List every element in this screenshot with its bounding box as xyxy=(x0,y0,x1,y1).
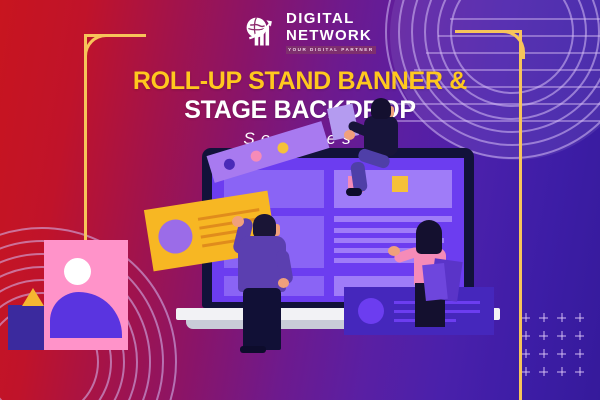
brand-line2: NETWORK xyxy=(286,28,376,43)
frame-left-corner xyxy=(84,34,113,63)
illustration xyxy=(0,140,600,400)
poster-sun-icon xyxy=(64,258,91,285)
man-shoe xyxy=(240,346,266,353)
sitting-person-shoe xyxy=(346,188,362,196)
brand-text: DIGITAL NETWORK YOUR DIGITAL PARTNER xyxy=(286,11,376,54)
headline-line-1: ROLL-UP STAND BANNER & xyxy=(0,68,600,94)
sitting-person-hand xyxy=(344,130,355,140)
yellow-card-circle xyxy=(156,217,195,256)
promo-banner: DIGITAL NETWORK YOUR DIGITAL PARTNER ROL… xyxy=(0,0,600,400)
sitting-person-head xyxy=(371,98,391,119)
brand-logo: DIGITAL NETWORK YOUR DIGITAL PARTNER xyxy=(243,11,376,54)
brand-line1: DIGITAL xyxy=(286,11,376,26)
poster-triangle-icon xyxy=(22,288,44,306)
woman-hair xyxy=(416,220,442,254)
woman-folder-back xyxy=(422,263,448,301)
headline-line-2: STAGE BACKDROP xyxy=(0,96,600,124)
man-hand-2 xyxy=(278,278,289,288)
man-hand xyxy=(232,216,244,227)
globe-chart-arrow-icon xyxy=(243,14,279,50)
banner-card-circle xyxy=(358,298,384,324)
woman-hand xyxy=(388,246,400,256)
brand-tagline: YOUR DIGITAL PARTNER xyxy=(286,46,376,54)
man-legs xyxy=(243,288,281,350)
